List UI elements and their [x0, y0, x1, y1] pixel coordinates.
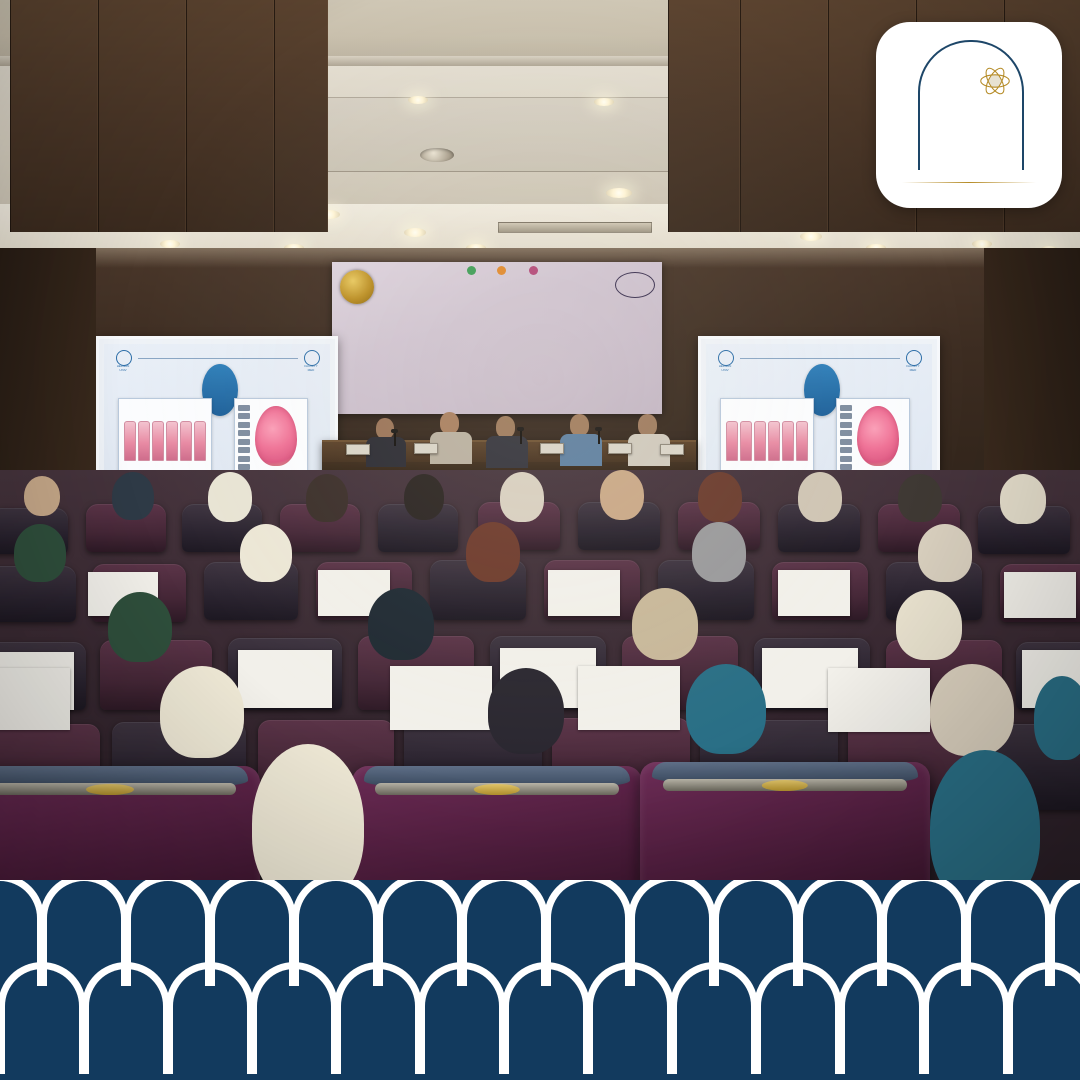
downlight-icon [800, 232, 822, 241]
attendee-headscarf [896, 590, 962, 660]
arch-icon [754, 962, 842, 1074]
microphone-icon [394, 432, 396, 446]
ceiling-diffuser-icon [498, 222, 652, 233]
slide-card-right [234, 398, 308, 474]
seat-card [548, 570, 620, 616]
attendee-headscarf [368, 588, 434, 660]
microphone-head-icon [517, 427, 524, 431]
attendee-headscarf [930, 664, 1014, 756]
audience-area [0, 470, 1080, 900]
slide-logo-left-icon: HELWANUNIV [112, 350, 134, 376]
seat-card [1004, 572, 1076, 618]
arch-icon [250, 962, 338, 1074]
slide-card-right [836, 398, 910, 474]
seat-card [390, 666, 492, 730]
attendee-headscarf [108, 592, 172, 662]
seat-card [238, 650, 332, 708]
attendee-headscarf [632, 588, 698, 660]
wall-panel [668, 0, 740, 232]
wall-panel [10, 0, 98, 232]
poster-canvas: HELWANUNIV FACULTYMED [0, 0, 1080, 1080]
arch-outline-icon [918, 40, 1024, 170]
attendee-headscarf [930, 750, 1040, 900]
brain-legend [238, 405, 254, 457]
banner-seal-icon [340, 270, 374, 304]
slide-rule [138, 358, 298, 359]
microphone-head-icon [391, 429, 398, 433]
name-plate [608, 443, 632, 454]
banner-sponsors [332, 390, 662, 412]
attendee-headscarf [1034, 676, 1080, 760]
arch-icon [334, 962, 422, 1074]
attendee-headscarf [1000, 474, 1046, 524]
seat-card [778, 570, 850, 616]
downlight-icon [160, 240, 180, 248]
brain-diagram [255, 406, 297, 465]
attendee-headscarf [466, 522, 520, 582]
arch-icon [166, 962, 254, 1074]
downlight-icon [404, 228, 426, 237]
downlight-icon [972, 240, 992, 248]
attendee-headscarf [240, 524, 292, 582]
attendee-headscarf [488, 668, 564, 754]
microphone-head-icon [595, 427, 602, 431]
name-plate [414, 443, 438, 454]
side-wall-right [984, 248, 1080, 488]
downlight-icon [594, 98, 614, 106]
attendee-headscarf [160, 666, 244, 758]
attendee-headscarf [918, 524, 972, 582]
seat-card [0, 668, 70, 730]
atherosclerosis-diagram [124, 423, 207, 461]
downlight-icon [408, 96, 428, 104]
microphone-icon [520, 430, 522, 444]
banner-dots [467, 266, 557, 275]
arch-icon [586, 962, 674, 1074]
microphone-icon [598, 430, 600, 444]
helwan-university-logo-badge [876, 22, 1062, 208]
atom-icon [976, 62, 1014, 100]
arch-icon [418, 962, 506, 1074]
faculty-logo-icon [612, 272, 656, 306]
ceiling-sprinkler-icon [420, 148, 454, 162]
brain-legend [840, 405, 856, 457]
attendee-headscarf [208, 472, 252, 522]
name-plate [660, 444, 684, 455]
attendee-headscarf [698, 472, 742, 522]
footer-band [0, 880, 1080, 1080]
seat-card [578, 666, 680, 730]
arch-row-bottom [0, 962, 1080, 1080]
wall-panel [98, 0, 186, 232]
attendee-headscarf [306, 474, 348, 522]
slide-card-left [118, 398, 212, 474]
wall-panel [274, 0, 328, 232]
attendee-headscarf [112, 472, 154, 520]
arch-icon [922, 962, 1010, 1074]
attendee-head [600, 470, 644, 520]
wall-panel [186, 0, 274, 232]
side-wall-left [0, 248, 96, 488]
arch-icon [1006, 962, 1080, 1074]
slide-logo-right-icon: FACULTYMED [300, 350, 322, 376]
attendee-headscarf [692, 522, 746, 582]
attendee-headscarf [252, 744, 364, 900]
attendee-headscarf [14, 524, 66, 582]
downlight-icon [606, 188, 632, 198]
arch-icon [82, 962, 170, 1074]
seat-card [828, 668, 930, 732]
arch-icon [670, 962, 758, 1074]
name-plate [540, 443, 564, 454]
logo-divider [902, 182, 1036, 183]
attendee-head [404, 474, 444, 520]
name-plate [346, 444, 370, 455]
attendee-headscarf [798, 472, 842, 522]
attendee-head [24, 476, 60, 516]
ceiling-access-panel [288, 97, 704, 172]
attendee-headscarf [500, 472, 544, 522]
attendee-headscarf [686, 664, 766, 754]
arch-icon [838, 962, 926, 1074]
arch-icon [502, 962, 590, 1074]
slide-rule [740, 358, 900, 359]
attendee-headscarf [898, 474, 942, 522]
brain-diagram [857, 406, 899, 465]
atherosclerosis-diagram [726, 423, 809, 461]
arch-icon [0, 962, 86, 1074]
slide-logo-right-icon: FACULTYMED [902, 350, 924, 376]
slide-logo-left-icon: HELWANUNIV [714, 350, 736, 376]
conference-banner [332, 262, 662, 414]
slide-card-left [720, 398, 814, 474]
wall-panel [740, 0, 828, 232]
